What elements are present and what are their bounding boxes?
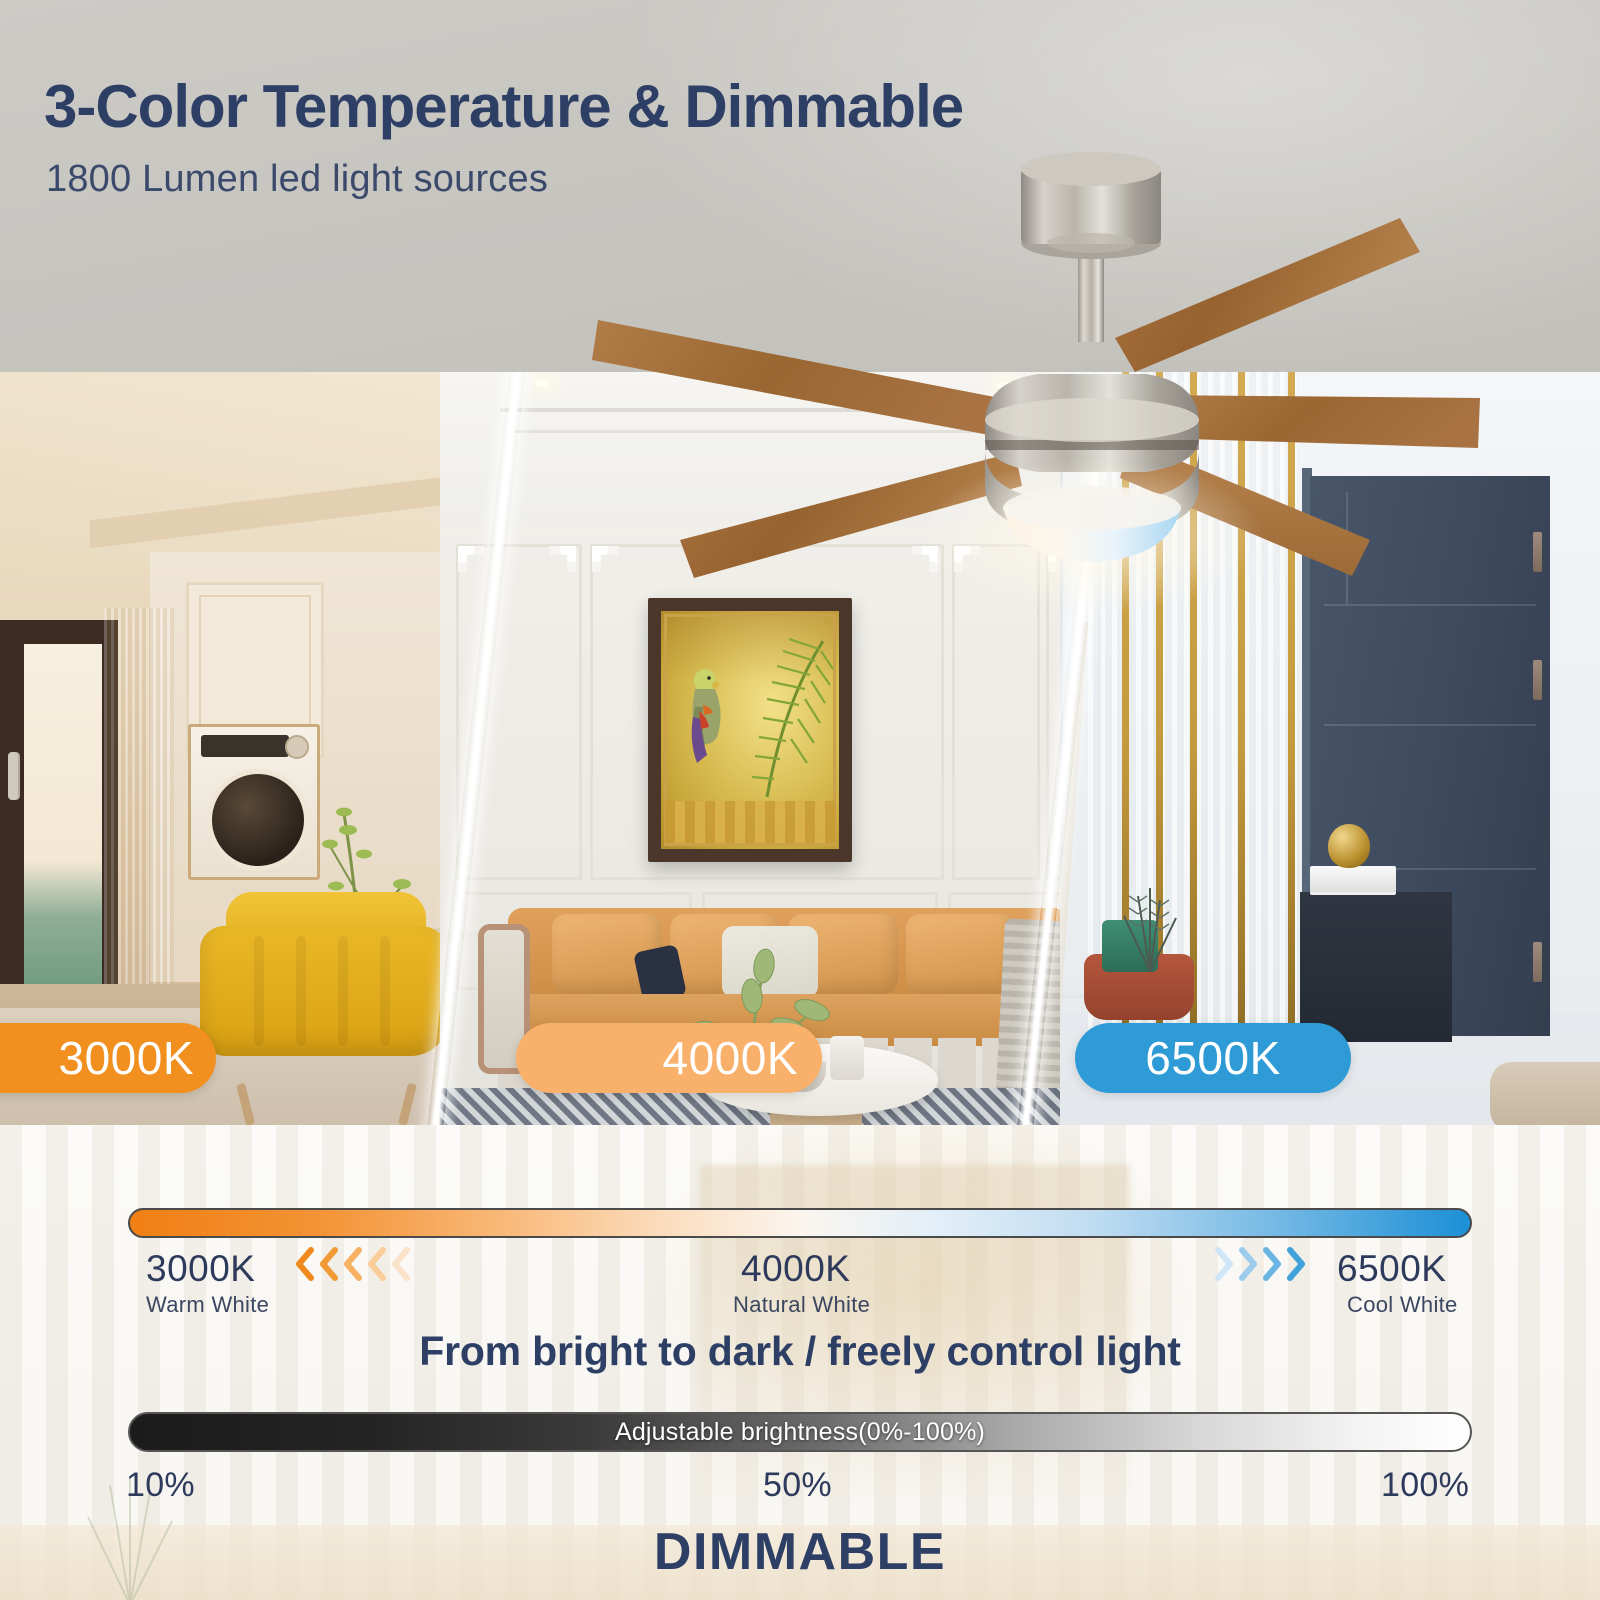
chair-cushion <box>200 926 450 1056</box>
cct-value-4000k: 4000K <box>741 1248 851 1290</box>
cct-value-3000k: 3000K <box>146 1248 256 1290</box>
sofa-back-cushion <box>906 914 1016 994</box>
chevron-right-icon <box>1285 1247 1307 1281</box>
cct-name-cool-white: Cool White <box>1347 1292 1458 1318</box>
badge-4000k-label: 4000K <box>662 1031 798 1085</box>
chevron-right-icon <box>1213 1247 1235 1281</box>
dimmable-footer-title: DIMMABLE <box>0 1522 1600 1582</box>
parrot-figure <box>679 663 731 783</box>
ceramic-vase <box>830 1036 864 1080</box>
appliance-display <box>201 735 289 757</box>
chevron-left-icon <box>389 1247 411 1281</box>
brightness-tick-50: 50% <box>763 1466 832 1505</box>
cct-name-natural-white: Natural White <box>733 1292 870 1318</box>
wall-moulding <box>952 544 1040 880</box>
brass-divider-rod <box>1288 372 1295 1052</box>
chevron-left-icon <box>365 1247 387 1281</box>
door-panel-line <box>1346 492 1348 604</box>
chevron-left-icon <box>293 1247 315 1281</box>
door-hinge <box>1533 660 1542 700</box>
brightness-bar-label: Adjustable brightness(0%-100%) <box>615 1418 985 1447</box>
balcony-glass <box>24 644 102 994</box>
chair-rib <box>380 936 390 1046</box>
recessed-downlight <box>752 378 766 385</box>
recessed-downlight <box>536 380 550 387</box>
page-title: 3-Color Temperature & Dimmable <box>44 72 963 141</box>
cct-name-warm-white: Warm White <box>146 1292 269 1318</box>
ceiling-cove-line <box>510 430 1110 433</box>
brightness-tick-10: 10% <box>126 1466 195 1505</box>
door-hinge <box>1533 942 1542 982</box>
framed-parrot-artwork <box>648 598 852 862</box>
dimming-tagline: From bright to dark / freely control lig… <box>0 1328 1600 1375</box>
appliance-door <box>207 769 309 871</box>
brightness-tick-100: 100% <box>1381 1466 1469 1505</box>
palm-frond-motif <box>737 633 835 813</box>
door-hinge <box>1533 532 1542 572</box>
chair-rib <box>338 936 348 1046</box>
product-infographic: 3-Color Temperature & Dimmable 1800 Lume… <box>0 0 1600 1600</box>
yellow-accent-chair <box>200 892 450 1092</box>
ceiling-warm <box>0 372 500 572</box>
cct-value-6500k: 6500K <box>1337 1248 1447 1290</box>
brightness-slider-bar[interactable]: Adjustable brightness(0%-100%) <box>128 1412 1472 1452</box>
spiky-plant <box>1090 842 1210 972</box>
chevron-left-icon <box>317 1247 339 1281</box>
badge-3000k: 3000K <box>0 1023 216 1093</box>
chevron-right-icon <box>1237 1247 1259 1281</box>
chevron-left-icon <box>341 1247 363 1281</box>
door-panel-line <box>1324 724 1536 726</box>
badge-3000k-label: 3000K <box>58 1031 194 1085</box>
sheer-curtain <box>104 608 174 1028</box>
stacked-books <box>1310 866 1396 892</box>
chair-rib <box>296 936 306 1046</box>
scene-comparison-strip <box>0 372 1600 1125</box>
chevron-right-icon <box>1261 1247 1283 1281</box>
badge-6500k: 6500K <box>1075 1023 1351 1093</box>
door-panel-line <box>1324 604 1536 606</box>
recessed-downlight <box>996 382 1010 389</box>
badge-4000k: 4000K <box>516 1023 822 1093</box>
black-console-cabinet <box>1300 892 1452 1042</box>
cool-direction-chevrons <box>1213 1247 1307 1281</box>
scene-panel-3000k <box>0 372 500 1125</box>
page-subtitle: 1800 Lumen led light sources <box>46 158 548 201</box>
header-band: 3-Color Temperature & Dimmable 1800 Lume… <box>0 0 1600 372</box>
ceiling-cove-line <box>500 408 1120 412</box>
brass-decor-orb <box>1328 824 1370 868</box>
sofa-corner-cool <box>1490 1062 1600 1125</box>
scene-panel-6500k <box>1060 372 1600 1125</box>
warm-direction-chevrons <box>293 1247 411 1281</box>
door-handle <box>8 752 18 800</box>
chair-rib <box>254 936 264 1046</box>
color-temperature-gradient-bar[interactable] <box>128 1208 1472 1238</box>
brass-divider-rod <box>1238 372 1245 1052</box>
badge-6500k-label: 6500K <box>1145 1031 1281 1085</box>
